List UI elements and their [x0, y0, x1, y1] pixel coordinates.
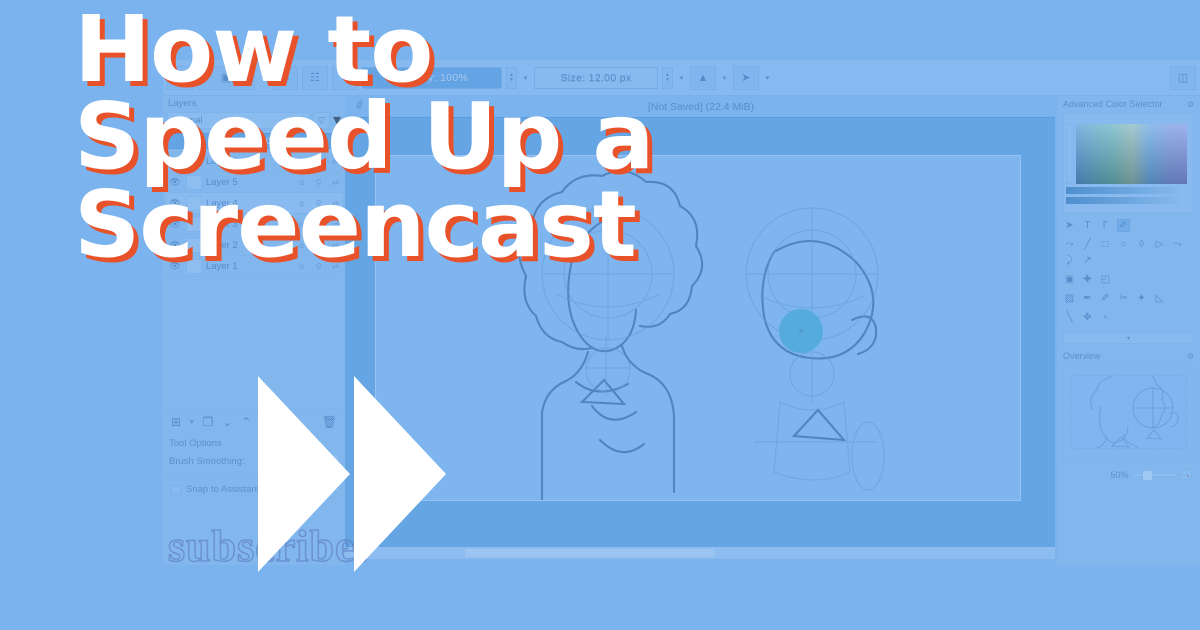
- title-line-2: Speed Up a: [74, 93, 834, 180]
- bezier-curve-icon[interactable]: ⤳: [1171, 238, 1184, 251]
- hscroll-thumb[interactable]: [465, 549, 715, 557]
- color-square[interactable]: [1076, 124, 1187, 184]
- freehand-select-icon[interactable]: ⤸: [1063, 254, 1076, 267]
- multibrush-icon[interactable]: ▣: [1063, 273, 1076, 286]
- overview-thumbnail: [1070, 375, 1187, 449]
- dynamic-brush-icon[interactable]: ↗: [1081, 254, 1094, 267]
- overview-title-label: Overview: [1063, 351, 1101, 361]
- overview-panel[interactable]: [1063, 366, 1194, 464]
- add-layer-caret-icon[interactable]: ▾: [190, 418, 194, 426]
- tools-grid[interactable]: ➤TΓ✐⤳╱□○◊▷⤳⤸↗▣✚◰▨✒✐✂✦◺╲✥▫: [1057, 215, 1200, 328]
- snap-to-assistants-checkbox[interactable]: [171, 485, 181, 495]
- overview-title: Overview ⚙: [1057, 348, 1200, 363]
- transform-icon[interactable]: ▨: [1063, 292, 1076, 305]
- gear-icon[interactable]: ⚙: [1187, 100, 1194, 109]
- zoom-slider-handle[interactable]: [1142, 470, 1153, 481]
- measure-icon[interactable]: ✥: [1081, 311, 1094, 324]
- overview-sketch: [1071, 376, 1189, 448]
- freehand-path-icon[interactable]: ⤳: [1063, 238, 1076, 251]
- duplicate-layer-icon[interactable]: ❐: [203, 415, 214, 429]
- text-tool-icon[interactable]: T: [1081, 219, 1094, 232]
- fast-forward-triangle-1: [258, 376, 350, 572]
- fast-forward-icon: [258, 376, 458, 572]
- polyline-tool-icon[interactable]: ▷: [1153, 238, 1166, 251]
- zoom-slider[interactable]: [1133, 473, 1177, 477]
- rectangle-tool-icon[interactable]: □: [1099, 238, 1112, 251]
- assistant-icon[interactable]: ╲: [1063, 311, 1076, 324]
- title-line-1: How to: [74, 6, 834, 93]
- page-title: How to Speed Up a Screencast: [74, 6, 834, 268]
- calligraphy-icon[interactable]: Γ: [1099, 219, 1112, 232]
- rect-select-icon[interactable]: ✚: [1081, 273, 1094, 286]
- gradient-icon[interactable]: ✒: [1081, 292, 1094, 305]
- smart-patch-icon[interactable]: ✦: [1135, 292, 1148, 305]
- chevron-up-icon[interactable]: ⌃: [241, 415, 251, 429]
- color-selector-title: Advanced Color Selector ⚙: [1057, 96, 1200, 111]
- value-strip-1[interactable]: [1066, 187, 1187, 194]
- colorize-icon[interactable]: ◺: [1153, 292, 1166, 305]
- ellipse-tool-icon[interactable]: ○: [1117, 238, 1130, 251]
- gear-icon[interactable]: ⚙: [1187, 352, 1194, 361]
- zoom-level-label: 50%: [1111, 470, 1129, 480]
- toolbar-overflow-icon[interactable]: ◫: [1170, 66, 1196, 90]
- pan-icon[interactable]: ▫: [1099, 311, 1112, 324]
- preset-dropdown[interactable]: ▾: [1063, 332, 1194, 344]
- fill-icon[interactable]: ✂: [1117, 292, 1130, 305]
- snap-to-assistants-label: Snap to Assistants: [186, 484, 264, 495]
- add-layer-icon[interactable]: ⊞: [171, 415, 181, 429]
- right-dockers: Advanced Color Selector ⚙ ➤TΓ✐⤳╱□○◊▷⤳⤸↗▣…: [1057, 96, 1200, 565]
- chevron-down-icon[interactable]: ⌄: [222, 415, 232, 429]
- advanced-color-selector[interactable]: [1063, 113, 1194, 213]
- freehand-brush-icon[interactable]: ✐: [1117, 219, 1130, 232]
- color-picker-icon[interactable]: ✐: [1099, 292, 1112, 305]
- select-pointer-icon[interactable]: ➤: [1063, 219, 1076, 232]
- line-tool-icon[interactable]: ╱: [1081, 238, 1094, 251]
- brush-smoothing-label: Brush Smoothing:: [169, 456, 254, 467]
- polygon-tool-icon[interactable]: ◊: [1135, 238, 1148, 251]
- fast-forward-triangle-2: [354, 376, 446, 572]
- crop-icon[interactable]: ◰: [1099, 273, 1112, 286]
- hue-strip[interactable]: [1066, 124, 1074, 184]
- title-line-3: Screencast: [74, 181, 834, 268]
- zoom-row: 50% 🔍: [1057, 467, 1200, 482]
- zoom-in-icon[interactable]: 🔍: [1180, 469, 1192, 480]
- value-strip-2[interactable]: [1066, 197, 1187, 204]
- color-selector-title-label: Advanced Color Selector: [1063, 99, 1163, 109]
